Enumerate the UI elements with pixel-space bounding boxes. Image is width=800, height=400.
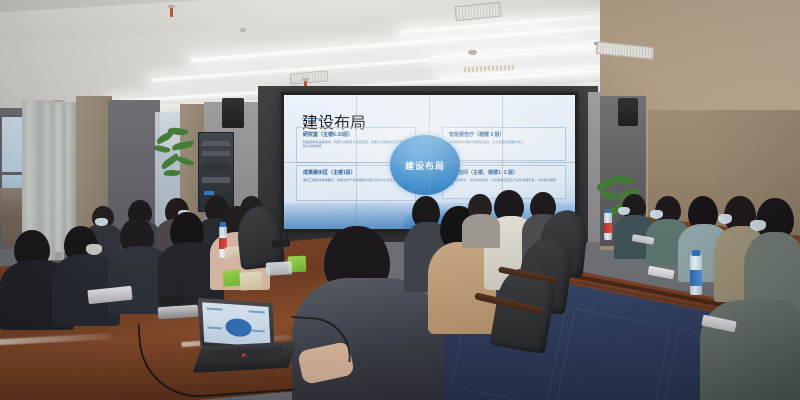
meeting-room-photo: 建设布局 研究室（主楼6-10层） 科技创新及关键技术、科研公共服务平台研究室、… xyxy=(0,0,800,400)
sprinkler-head xyxy=(168,5,175,17)
wall-speaker-right xyxy=(618,98,638,126)
tissue-box-green[interactable] xyxy=(222,269,241,286)
attendee xyxy=(462,194,498,244)
smoke-detector xyxy=(240,28,246,32)
water-bottle[interactable] xyxy=(690,255,702,295)
wall-speaker-left xyxy=(222,98,244,128)
potted-plant-left xyxy=(152,128,198,186)
gooseneck-microphone[interactable] xyxy=(272,239,290,247)
tissue-box-beige[interactable] xyxy=(239,271,262,290)
glass-tray[interactable] xyxy=(266,261,293,275)
attendee-foreground xyxy=(52,226,116,318)
smartphone[interactable] xyxy=(647,266,674,280)
attendee-right-arm xyxy=(700,300,800,400)
water-bottle[interactable] xyxy=(604,212,612,240)
smoke-detector xyxy=(468,50,477,55)
tissue-box-beige[interactable] xyxy=(225,247,240,259)
